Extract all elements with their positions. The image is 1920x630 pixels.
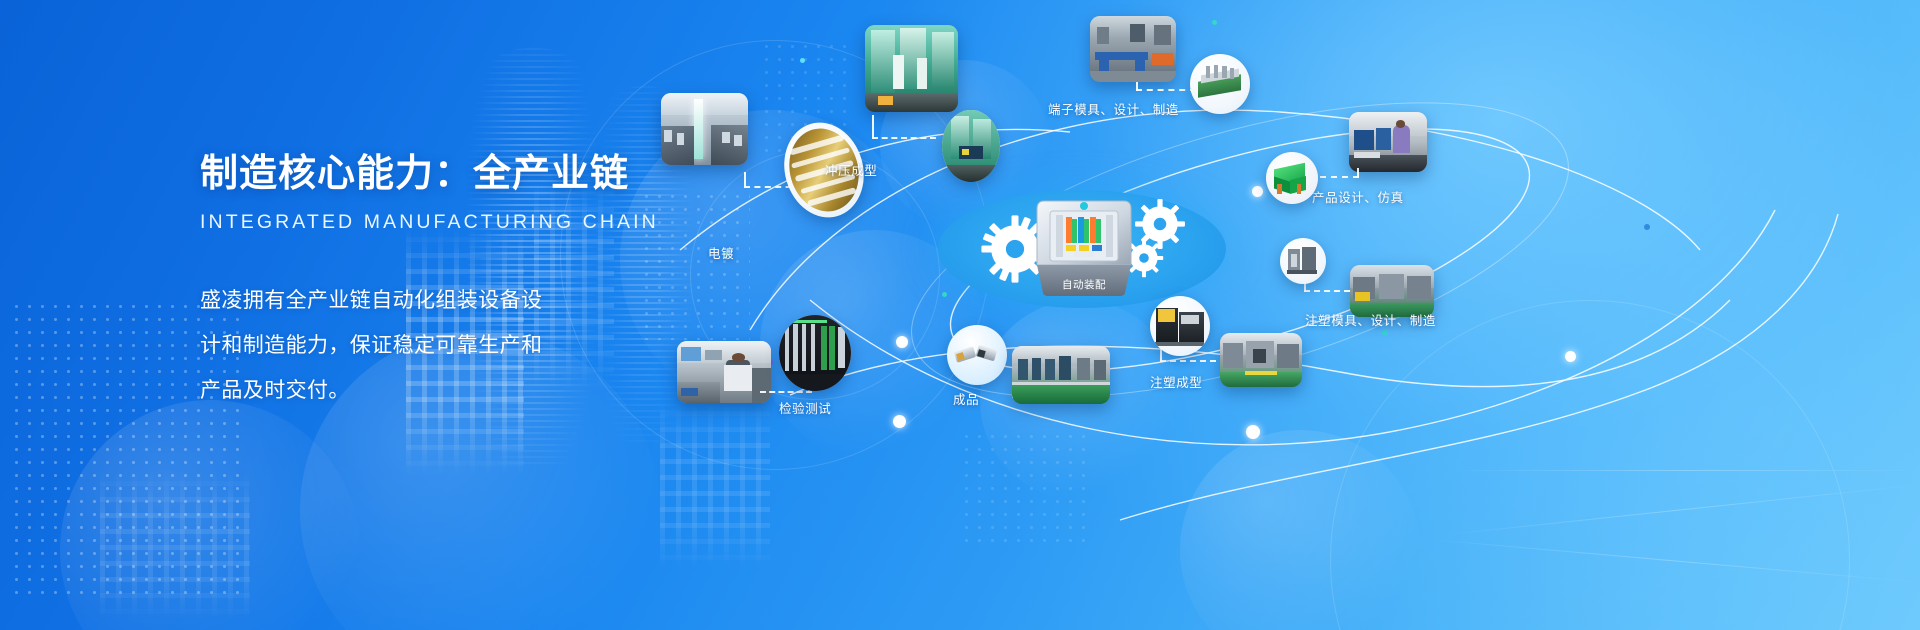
spark-dot <box>942 292 947 297</box>
inspection-lab-photo[interactable] <box>677 341 771 403</box>
node-label-terminal-mold: 端子模具、设计、制造 <box>1048 99 1179 118</box>
node-label-stamping: 冲压成型 <box>825 160 877 179</box>
connector-dash <box>1160 360 1216 362</box>
molding-machine-photo[interactable] <box>1220 333 1302 387</box>
connector-tick <box>1136 82 1138 91</box>
molding-machine-icon[interactable] <box>1150 296 1210 356</box>
connector-dash <box>1136 89 1196 91</box>
node-label-finished-product: 成品 <box>953 389 979 408</box>
connector-tick <box>872 115 874 139</box>
decorative-blob <box>60 400 360 630</box>
spark-dot <box>800 58 805 63</box>
hub-label: 自动装配 <box>1040 277 1128 292</box>
orbit-node-dot <box>1246 425 1260 439</box>
connector-tick <box>744 172 746 188</box>
node-label-inspection: 检验测试 <box>779 398 831 417</box>
connector-product-icon[interactable] <box>947 325 1007 385</box>
orbit-node-dot <box>1565 351 1576 362</box>
terminal-mold-photo[interactable] <box>1090 16 1176 82</box>
orbit-node-dot <box>893 415 906 428</box>
stamping-machine-icon[interactable] <box>942 110 1000 182</box>
process-chain-diagram: 自动装配 电镀 <box>640 0 1920 630</box>
spark-dot <box>1644 224 1650 230</box>
spark-dot <box>1212 20 1217 25</box>
orbit-node-dot <box>896 336 908 348</box>
body-paragraph: 盛凌拥有全产业链自动化组装设备设计和制造能力，保证稳定可靠生产和产品及时交付。 <box>200 278 560 413</box>
test-fixture-icon[interactable] <box>779 315 851 391</box>
plating-line-photo[interactable] <box>661 93 748 165</box>
node-label-electroplating: 电镀 <box>708 243 734 262</box>
cad-model-icon[interactable] <box>1266 152 1318 204</box>
connector-dash <box>872 137 936 139</box>
node-label-product-design: 产品设计、仿真 <box>1312 187 1404 206</box>
node-label-injection-molding: 注塑成型 <box>1150 372 1202 391</box>
terminal-mold-icon[interactable] <box>1190 54 1250 114</box>
assembly-line-photo[interactable] <box>1012 346 1110 404</box>
orbit-node-dot <box>1252 186 1263 197</box>
manufacturing-chain-banner: 制造核心能力：全产业链 INTEGRATED MANUFACTURING CHA… <box>0 0 1920 630</box>
decorative-square-grid <box>100 470 250 620</box>
connector-tick <box>1357 168 1359 178</box>
connector-dash <box>760 391 812 393</box>
connector-dash <box>1304 290 1350 292</box>
spark-dot <box>1382 330 1388 336</box>
injection-mold-icon[interactable] <box>1280 238 1326 284</box>
cad-designer-photo[interactable] <box>1349 112 1427 172</box>
stamping-press-photo[interactable] <box>865 25 958 112</box>
node-label-injection-mold: 注塑模具、设计、制造 <box>1305 310 1436 329</box>
